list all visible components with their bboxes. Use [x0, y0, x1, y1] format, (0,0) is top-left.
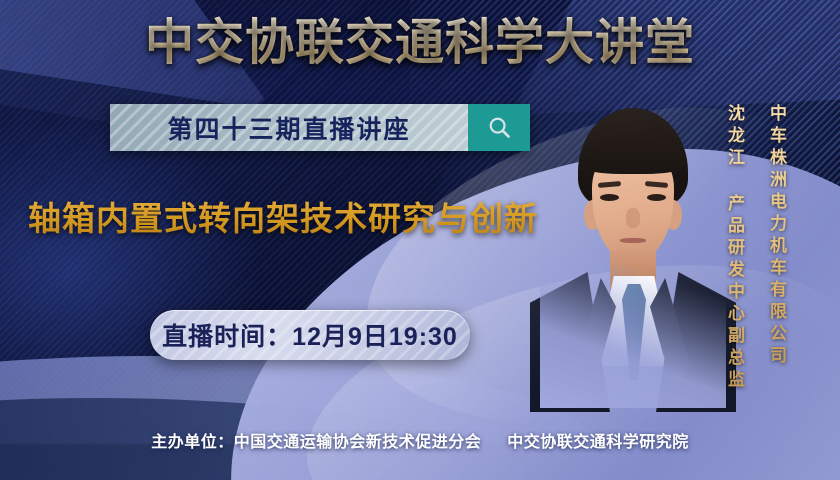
- organizer-prefix: 主办单位：: [151, 434, 234, 451]
- organizer-footer: 主办单位：中国交通运输协会新技术促进分会中交协联交通科学研究院: [0, 428, 840, 452]
- page-title: 中交协联交通科学大讲堂: [0, 14, 840, 72]
- avatar: [540, 108, 726, 408]
- organizer-primary: 中国交通运输协会新技术促进分会: [234, 434, 482, 451]
- broadcast-time-badge: 直播时间：12月9日19:30: [150, 310, 470, 360]
- portrait-eye-right: [647, 194, 666, 201]
- portrait-mouth: [620, 238, 646, 243]
- portrait-eye-left: [600, 194, 619, 201]
- lecture-topic-title: 轴箱内置式转向架技术研究与创新: [28, 196, 538, 242]
- episode-banner-body: 第四十三期直播讲座: [110, 104, 468, 151]
- search-icon: [487, 115, 512, 140]
- episode-label: 第四十三期直播讲座: [167, 110, 410, 146]
- speaker-name-and-role: 沈龙江 产品研发中心副总监: [722, 104, 747, 392]
- broadcast-time-text: 直播时间：12月9日19:30: [162, 317, 458, 353]
- speaker-company: 中车株洲电力机车有限公司: [764, 104, 789, 368]
- live-lecture-poster: 中交协联交通科学大讲堂 第四十三期直播讲座 轴箱内置式转向架技术研究与创新 直播…: [0, 0, 840, 480]
- search-button[interactable]: [468, 104, 530, 151]
- episode-banner: 第四十三期直播讲座: [110, 104, 530, 151]
- organizer-secondary: 中交协联交通科学研究院: [507, 434, 689, 451]
- portrait-nose: [626, 208, 640, 228]
